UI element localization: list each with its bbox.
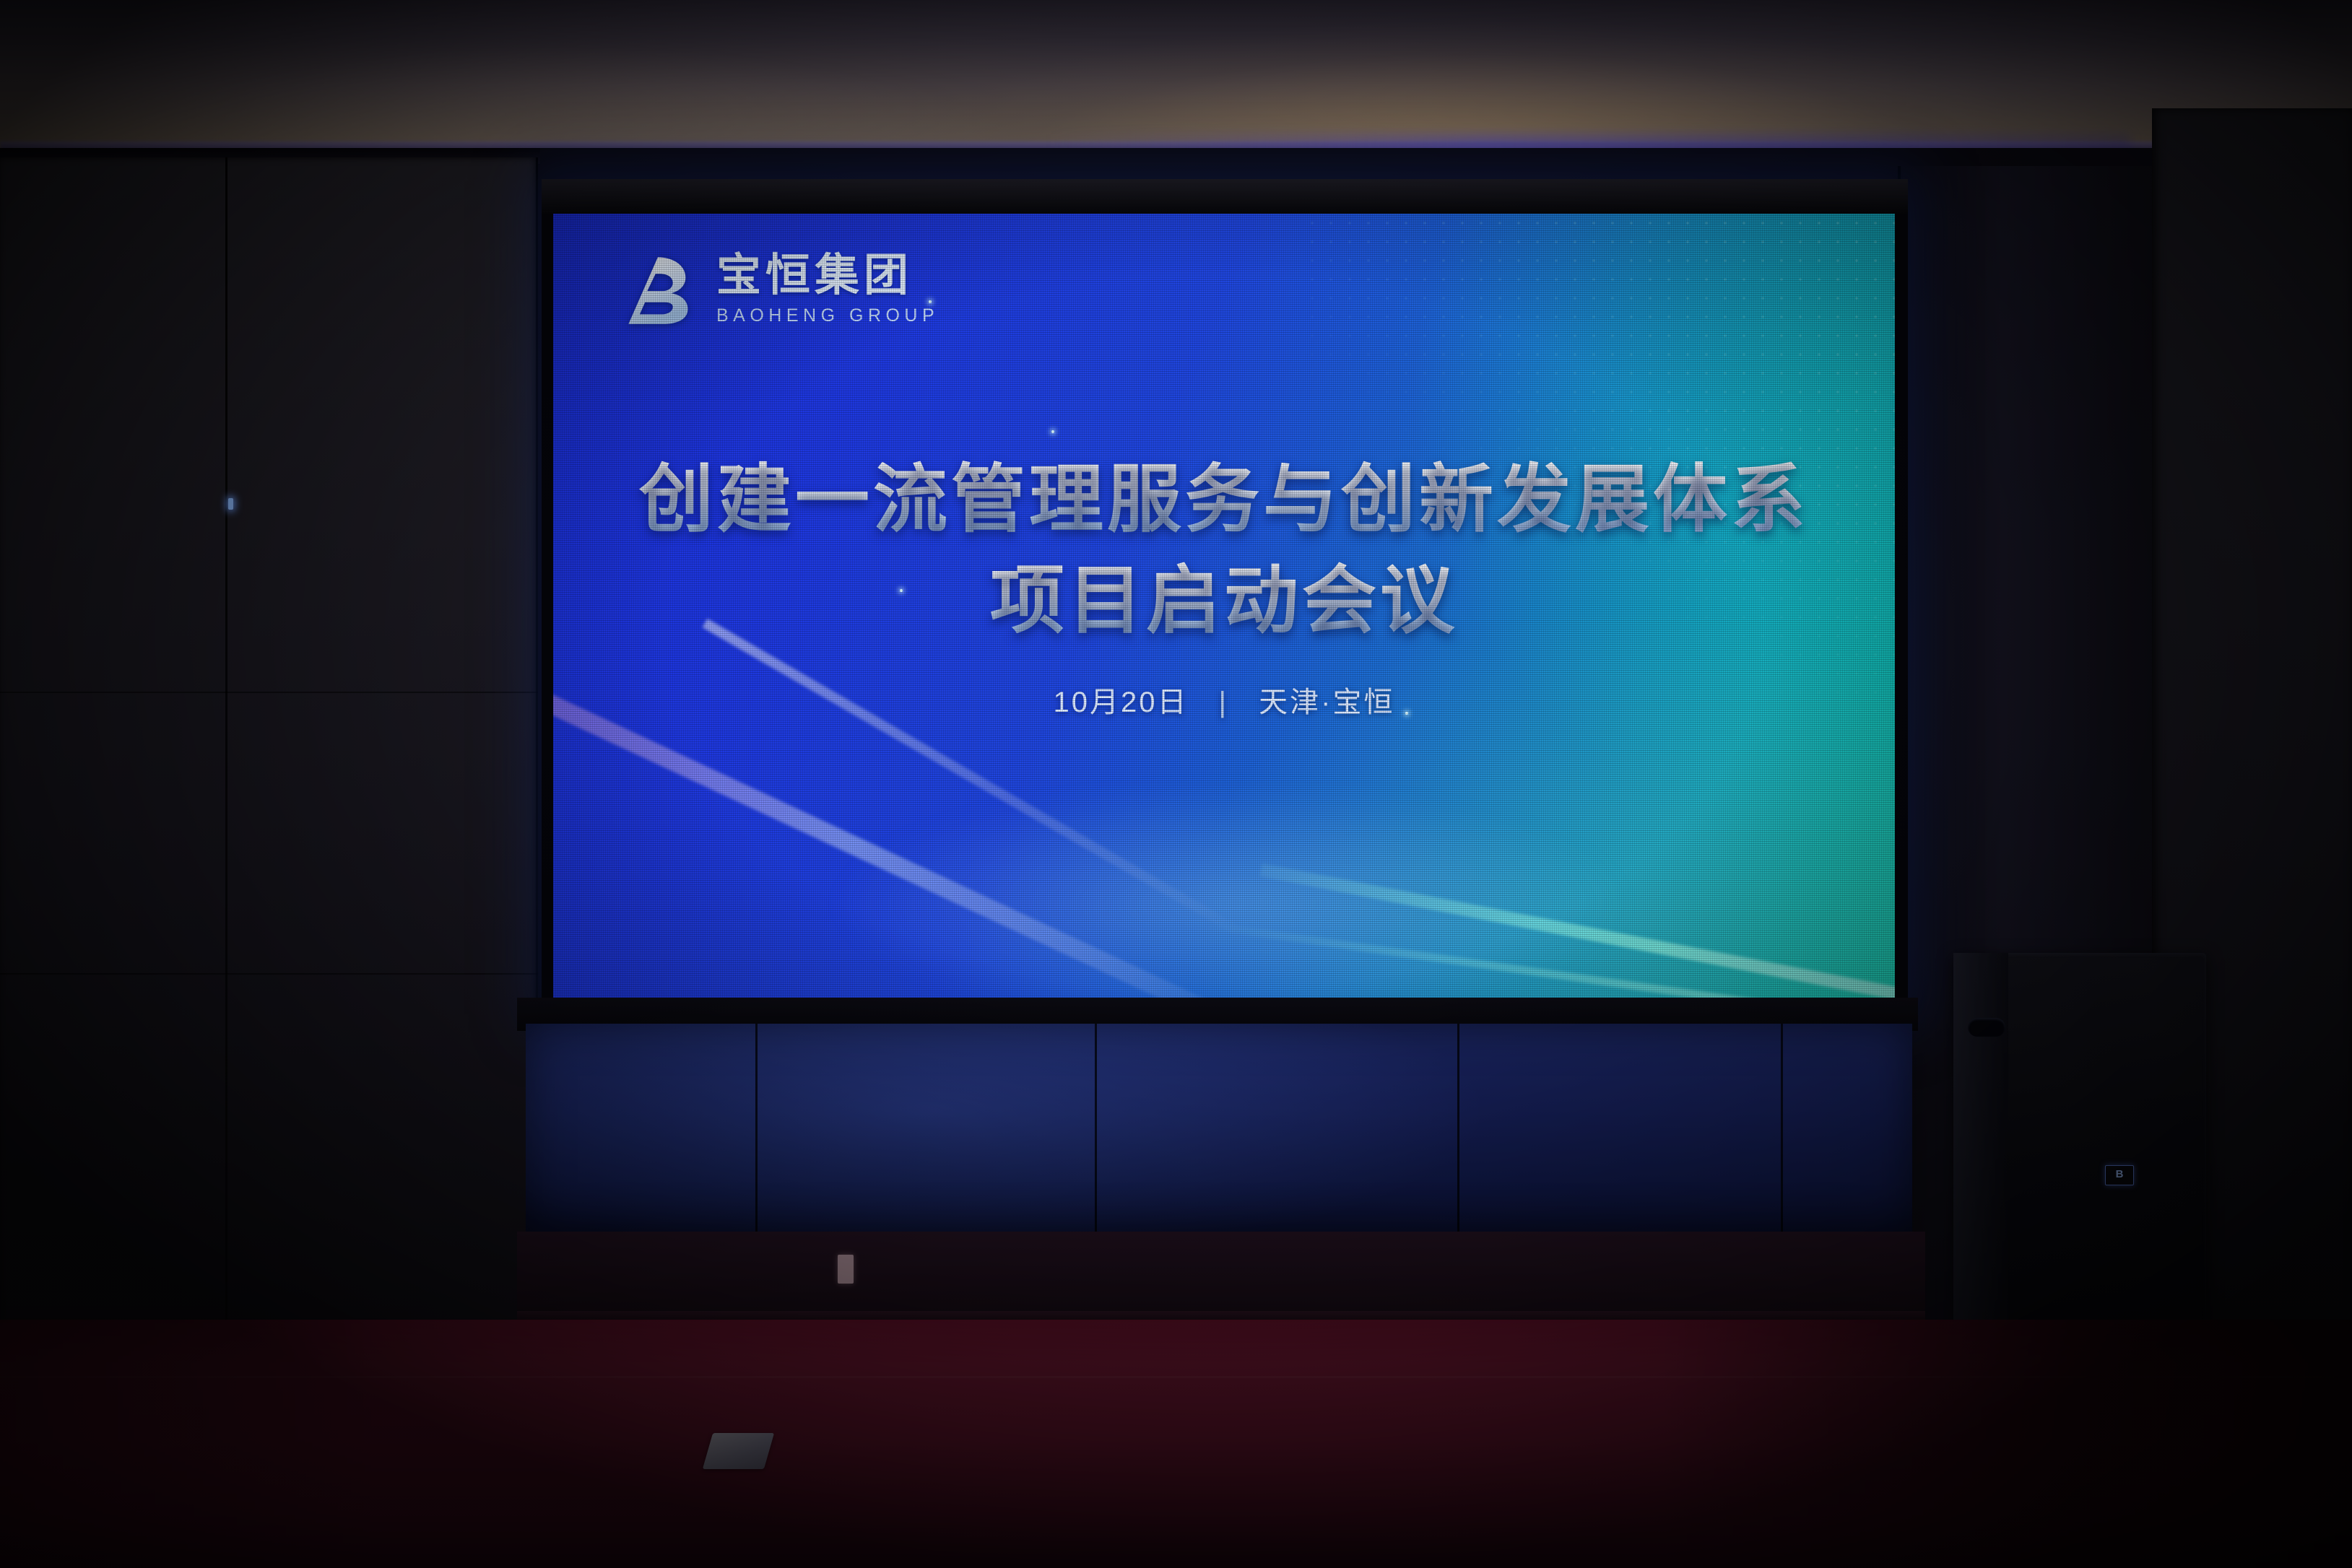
panel-seam: [0, 973, 538, 975]
panel-seam: [0, 692, 538, 693]
skirt-seam: [755, 1024, 758, 1234]
led-display: 宝恒集团 BAOHENG GROUP 创建一流管理服务与创新发展体系 项目启动会…: [553, 214, 1895, 998]
skirt-light-wash: [526, 1024, 1912, 1234]
led-pixel-grid: [553, 214, 1895, 998]
floor-socket-plate: [703, 1433, 774, 1469]
skirt-seam: [1457, 1024, 1459, 1234]
floor-shadow-left: [0, 1320, 376, 1568]
wall-power-outlet: [838, 1255, 854, 1284]
panel-indicator-led: [228, 498, 233, 510]
stage-base-trim: [517, 1232, 1925, 1318]
conference-hall-scene: 宝恒集团 BAOHENG GROUP 创建一流管理服务与创新发展体系 项目启动会…: [0, 0, 2352, 1568]
speaker-brand-badge: B: [2105, 1165, 2134, 1185]
floor-shadow-right: [1661, 1320, 2352, 1568]
speaker-side-face: [1953, 953, 2008, 1364]
speaker-handle: [1968, 1018, 2005, 1037]
stage-skirt-panels: [526, 1024, 1912, 1234]
acoustic-panel-wall-left: [0, 157, 538, 1327]
panel-seam: [225, 157, 227, 1327]
led-screen-bezel: [542, 179, 1908, 214]
skirt-seam: [1095, 1024, 1097, 1234]
skirt-seam: [1781, 1024, 1783, 1234]
ceiling: [0, 0, 2352, 148]
